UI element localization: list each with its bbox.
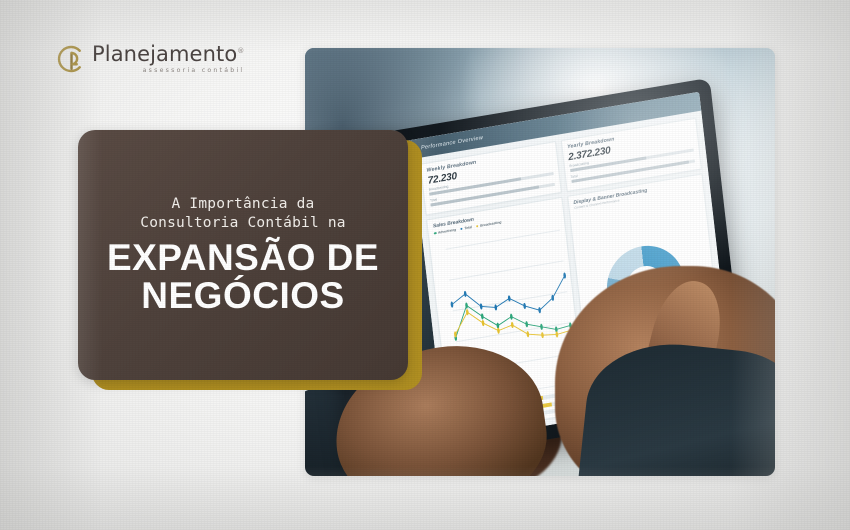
kicker-line-1: A Importância da: [140, 195, 345, 214]
cp-monogram-icon: [55, 44, 85, 74]
poster-canvas: Interface Performance Overview Stores Re…: [0, 0, 850, 530]
legend-swatch-icon: [460, 227, 463, 230]
logo-name: Planejamento®: [92, 44, 244, 65]
kicker-line-2: Consultoria Contábil na: [140, 214, 345, 233]
brand-logo[interactable]: Planejamento® assessoria contábil: [55, 44, 244, 74]
logo-tagline: assessoria contábil: [92, 68, 244, 74]
kicker-text: A Importância da Consultoria Contábil na: [140, 195, 345, 233]
legend-swatch-icon: [434, 232, 437, 235]
headline-line-1: EXPANSÃO DE: [107, 239, 379, 277]
headline-line-2: NEGÓCIOS: [107, 277, 379, 315]
logo-wordmark: Planejamento® assessoria contábil: [92, 44, 244, 74]
headline-text: EXPANSÃO DE NEGÓCIOS: [107, 239, 379, 314]
legend-swatch-icon: [476, 225, 479, 228]
headline-card: A Importância da Consultoria Contábil na…: [78, 130, 408, 380]
registered-mark-icon: ®: [237, 47, 244, 55]
